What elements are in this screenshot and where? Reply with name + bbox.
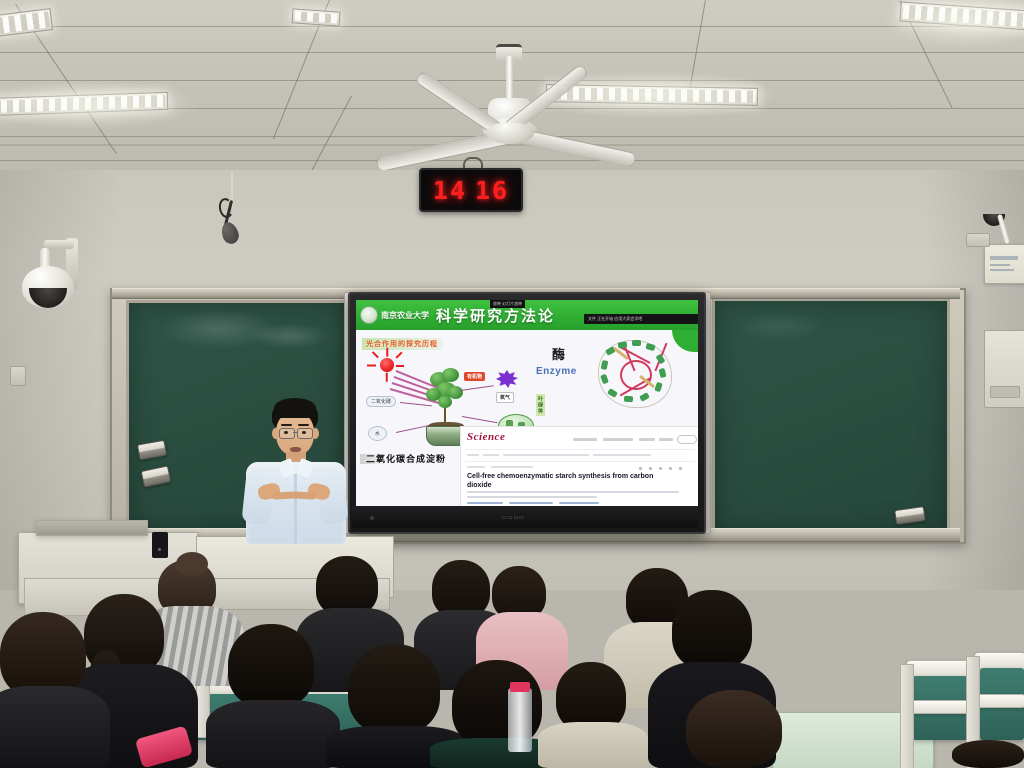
fan-hub-cap — [486, 122, 534, 144]
article-link[interactable] — [467, 502, 503, 504]
article-breadcrumb — [483, 454, 499, 456]
article-kicker — [467, 466, 485, 468]
article-breadcrumb — [593, 454, 651, 456]
student-head — [672, 590, 752, 670]
student-body — [206, 700, 340, 768]
display-chin — [352, 506, 698, 528]
student-body — [538, 722, 648, 768]
share-icon[interactable] — [639, 467, 642, 470]
ceiling-light-strip — [292, 8, 341, 26]
article-nav-item — [603, 438, 633, 441]
eyeglasses-bridge — [293, 432, 297, 433]
seat-post — [900, 664, 914, 768]
flow-arrow — [460, 385, 494, 391]
share-icon[interactable] — [649, 467, 652, 470]
presenter-eye — [302, 431, 306, 434]
presenter-eye — [284, 431, 288, 434]
seat-rail — [908, 700, 972, 714]
plant-foliage — [442, 368, 459, 382]
article-breadcrumb — [467, 454, 479, 456]
student-head — [348, 644, 440, 734]
ceiling — [0, 0, 1024, 172]
flow-arrow — [462, 416, 498, 423]
wall-panel-slot — [990, 386, 1020, 398]
burst-icon — [496, 370, 518, 388]
presenter-shirt-placket — [294, 474, 297, 544]
article-nav-item — [639, 438, 655, 441]
sun-ray — [372, 352, 379, 359]
plant-foliage — [438, 396, 452, 408]
presenter-brow — [298, 424, 309, 426]
wall-outlet-plate — [10, 366, 26, 386]
student-head — [316, 556, 378, 616]
student-head — [952, 740, 1024, 768]
podium-device[interactable] — [152, 532, 168, 558]
sun-ray — [395, 352, 402, 359]
article-breadcrumb — [503, 454, 589, 456]
flow-arrow — [396, 425, 429, 433]
output-label-oxygen: 氧气 — [496, 392, 514, 403]
ceiling-light-strip — [0, 8, 53, 38]
ppt-tab-label: 放映 幻灯片放映 — [490, 300, 525, 308]
water-bottle[interactable] — [508, 688, 532, 752]
lecture-hall-photo: 14 16 南京农业大学 科学研究方法论 放映 幻灯片放映 文件 正在开始 应用… — [0, 0, 1024, 768]
article-kicker — [491, 466, 533, 468]
podium-desktop — [36, 520, 148, 536]
presenter-ear — [312, 428, 319, 439]
enzyme-residue — [632, 340, 641, 346]
display-brand-logo: ▭▭▭▭ — [502, 515, 525, 521]
interactive-smart-display[interactable]: 南京农业大学 科学研究方法论 放映 幻灯片放映 文件 正在开始 应用大家会学吧 … — [348, 292, 706, 534]
clock-hours: 14 — [433, 176, 467, 205]
enzyme-residue — [624, 396, 633, 403]
article-link[interactable] — [559, 502, 599, 504]
wall-sign-text-line — [990, 269, 1014, 271]
sun-ray — [367, 365, 376, 367]
sun-ray — [386, 348, 388, 357]
student-head — [228, 624, 314, 708]
article-search-pill[interactable] — [677, 435, 697, 444]
fan-downrod — [506, 56, 513, 104]
presenter-fingers — [292, 491, 316, 499]
article-nav-item — [659, 438, 673, 441]
presenter-hair-top — [274, 398, 316, 418]
enzyme-label-cn: 酶 — [552, 344, 565, 363]
input-label-co2: 二氧化碳 — [366, 396, 396, 407]
seat-rail — [976, 694, 1024, 708]
bottle-cap[interactable] — [510, 682, 530, 692]
display-screen[interactable]: 南京农业大学 科学研究方法论 放映 幻灯片放映 文件 正在开始 应用大家会学吧 … — [356, 300, 698, 506]
wall-sign-text-line — [990, 256, 1018, 260]
share-icon[interactable] — [659, 467, 662, 470]
enzyme-residue — [618, 341, 628, 348]
slide-section-label: 光合作用的探究历程 — [362, 338, 442, 350]
output-label-organic: 有机物 — [464, 372, 485, 381]
science-article-screenshot: Science — [460, 426, 698, 506]
sun-icon — [380, 358, 394, 372]
wall-sign-text-line — [990, 264, 1010, 266]
student-head — [686, 690, 782, 768]
podium-device-indicator — [158, 548, 161, 551]
clock-minutes: 16 — [475, 176, 509, 205]
ppt-menu-bar[interactable]: 文件 正在开始 应用大家会学吧 — [584, 314, 698, 324]
wall-equipment-box — [966, 233, 990, 247]
enzyme-label-en: Enzyme — [536, 366, 577, 377]
slide-university-name: 南京农业大学 — [381, 310, 429, 321]
organelle-label: 叶绿体 — [536, 394, 545, 416]
presenter-ear — [272, 428, 279, 439]
camera-bracket-arm — [44, 240, 74, 249]
sun-ray — [386, 373, 388, 382]
right-chalkboard — [712, 298, 950, 536]
student-hair-bun — [176, 552, 208, 576]
article-nav-item — [573, 438, 597, 441]
flow-arrow — [400, 402, 432, 406]
share-icon[interactable] — [669, 467, 672, 470]
sun-ray — [396, 365, 404, 367]
journal-name: Science — [467, 431, 505, 443]
share-icon[interactable] — [679, 467, 682, 470]
display-power-led[interactable] — [370, 516, 374, 520]
digital-wall-clock: 14 16 — [419, 168, 523, 212]
input-label-water: 水 — [368, 426, 387, 441]
slide-corner-accent — [672, 330, 698, 352]
university-seal-icon — [360, 306, 378, 324]
slide-caption: 二氧化碳合成淀粉 — [366, 452, 446, 465]
article-link[interactable] — [509, 502, 553, 504]
slide-body: 光合作用的探究历程 — [356, 330, 698, 506]
article-title: Cell-free chemoenzymatic starch synthesi… — [467, 473, 663, 491]
student-body — [0, 686, 110, 768]
presenter-brow — [281, 424, 292, 426]
